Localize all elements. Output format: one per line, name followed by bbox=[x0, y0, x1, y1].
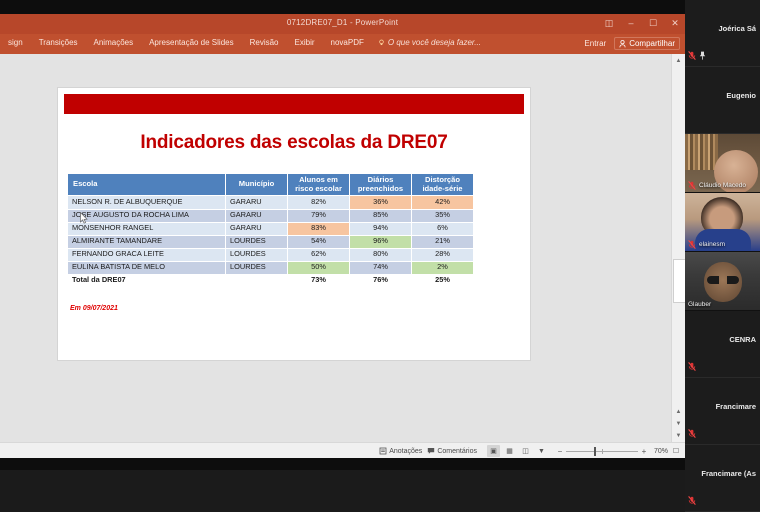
participant-badges bbox=[688, 362, 696, 371]
cell-distorcao: 6% bbox=[412, 222, 474, 235]
slide-date-note[interactable]: Em 09/07/2021 bbox=[70, 305, 118, 312]
participant-name: Francimare (As bbox=[687, 469, 756, 478]
participant-name: Glauber bbox=[688, 301, 711, 308]
cell-risco: 79% bbox=[288, 209, 350, 222]
th-escola: Escola bbox=[68, 174, 226, 196]
cell-risco: 82% bbox=[288, 196, 350, 209]
share-button[interactable]: Compartilhar bbox=[614, 37, 680, 50]
minimize-icon[interactable]: – bbox=[625, 16, 637, 30]
tab-animacoes[interactable]: Animações bbox=[86, 37, 142, 48]
letterbox-bottom bbox=[0, 458, 685, 470]
cell-distorcao: 2% bbox=[412, 261, 474, 274]
cell-distorcao: 35% bbox=[412, 209, 474, 222]
participant-name: elainesm bbox=[699, 241, 725, 248]
cell-escola: EULINA BATISTA DE MELO bbox=[68, 261, 226, 274]
slideshow-icon[interactable]: ▼ bbox=[535, 445, 548, 457]
pin-icon bbox=[699, 51, 706, 60]
participant-name: CENRA bbox=[687, 335, 756, 344]
comments-label: Comentários bbox=[437, 448, 477, 455]
cell-municipio: GARARU bbox=[226, 222, 288, 235]
restore-icon[interactable]: ☐ bbox=[647, 16, 659, 30]
tab-design[interactable]: sign bbox=[0, 37, 31, 48]
cell-escola: ALMIRANTE TAMANDARE bbox=[68, 235, 226, 248]
participant-video-label: elainesm bbox=[688, 240, 758, 249]
table-row[interactable]: JOSE AUGUSTO DA ROCHA LIMA GARARU 79% 85… bbox=[68, 209, 474, 222]
participant-video-label: Cláudio Macedo bbox=[688, 181, 758, 190]
table-row[interactable]: MONSENHOR RANGEL GARARU 83% 94% 6% bbox=[68, 222, 474, 235]
participant-video-tile-claudio-macedo[interactable]: Cláudio Macedo bbox=[685, 134, 760, 193]
cell-total-risco: 73% bbox=[288, 274, 350, 287]
cell-diarios: 80% bbox=[350, 248, 412, 261]
cell-municipio: GARARU bbox=[226, 209, 288, 222]
status-bar-right: Anotações Comentários ▣ ▦ ◫ ▼ − bbox=[379, 443, 681, 458]
cell-diarios: 85% bbox=[350, 209, 412, 222]
window-title: 0712DRE07_D1 - PowerPoint bbox=[0, 18, 685, 27]
mic-muted-icon bbox=[688, 496, 696, 505]
table-row[interactable]: FERNANDO GRACA LEITE LOURDES 62% 80% 28% bbox=[68, 248, 474, 261]
cell-diarios: 96% bbox=[350, 235, 412, 248]
next-slide-icon[interactable]: ▼ bbox=[672, 418, 685, 430]
zoom-level-label[interactable]: 70% bbox=[650, 448, 668, 455]
participant-tile-eugenio[interactable]: Eugenio bbox=[685, 67, 760, 134]
th-distorcao-line2: idade-série bbox=[422, 184, 462, 193]
table-total-row[interactable]: Total da DRE07 73% 76% 25% bbox=[68, 274, 474, 287]
table-row[interactable]: EULINA BATISTA DE MELO LOURDES 50% 74% 2… bbox=[68, 261, 474, 274]
cell-diarios: 94% bbox=[350, 222, 412, 235]
comment-icon bbox=[427, 447, 435, 455]
scroll-down-icon[interactable]: ▼ bbox=[672, 430, 685, 442]
share-label: Compartilhar bbox=[629, 39, 675, 48]
participant-tile-joerica-sa[interactable]: Joérica Sá bbox=[685, 0, 760, 67]
cell-diarios: 36% bbox=[350, 196, 412, 209]
zoom-default-tick bbox=[602, 449, 603, 454]
th-alunos-risco-line2: risco escolar bbox=[295, 184, 342, 193]
letterbox-top bbox=[0, 0, 685, 14]
cell-risco: 50% bbox=[288, 261, 350, 274]
sign-in-button[interactable]: Entrar bbox=[584, 39, 606, 48]
participant-name: Joérica Sá bbox=[687, 24, 756, 33]
powerpoint-window: 0712DRE07_D1 - PowerPoint ◫ – ☐ ✕ sign T… bbox=[0, 14, 685, 458]
cell-total-diarios: 76% bbox=[350, 274, 412, 287]
participant-name: Eugenio bbox=[687, 91, 756, 100]
cell-escola: NELSON R. DE ALBUQUERQUE bbox=[68, 196, 226, 209]
reading-view-icon[interactable]: ◫ bbox=[519, 445, 532, 457]
tell-me-label: O que você deseja fazer... bbox=[388, 38, 481, 47]
th-municipio: Município bbox=[226, 174, 288, 196]
slide-title[interactable]: Indicadores das escolas da DRE07 bbox=[58, 132, 530, 154]
mouse-cursor bbox=[80, 212, 88, 224]
mic-muted-icon bbox=[688, 362, 696, 371]
cell-total-distorcao: 25% bbox=[412, 274, 474, 287]
screen-root: 0712DRE07_D1 - PowerPoint ◫ – ☐ ✕ sign T… bbox=[0, 0, 760, 470]
participant-tile-francimare[interactable]: Francimare bbox=[685, 378, 760, 445]
comments-button[interactable]: Comentários bbox=[427, 447, 477, 455]
ribbon-tab-bar: sign Transições Animações Apresentação d… bbox=[0, 34, 685, 54]
participant-badges bbox=[688, 51, 706, 60]
slide-stage: Indicadores das escolas da DRE07 Escola … bbox=[0, 54, 685, 442]
tab-revisao[interactable]: Revisão bbox=[242, 37, 287, 48]
mic-muted-icon bbox=[688, 51, 696, 60]
th-diarios-line1: Diários bbox=[368, 175, 394, 184]
participant-tile-cenra[interactable]: CENRA bbox=[685, 311, 760, 378]
cell-escola: FERNANDO GRACA LEITE bbox=[68, 248, 226, 261]
th-alunos-risco-line1: Alunos em bbox=[299, 175, 338, 184]
window-controls: ◫ – ☐ ✕ bbox=[603, 16, 681, 30]
notes-icon bbox=[379, 447, 387, 455]
notes-button[interactable]: Anotações bbox=[379, 447, 422, 455]
participant-name: Francimare bbox=[687, 402, 756, 411]
slide-sorter-icon[interactable]: ▦ bbox=[503, 445, 516, 457]
participant-rail: Joérica Sá Eugenio bbox=[685, 0, 760, 470]
scrollbar-thumb[interactable] bbox=[673, 259, 685, 303]
cell-diarios: 74% bbox=[350, 261, 412, 274]
tell-me-box[interactable]: O que você deseja fazer... bbox=[372, 37, 487, 48]
cell-total-label: Total da DRE07 bbox=[68, 274, 226, 287]
mic-muted-icon bbox=[688, 240, 696, 249]
cell-municipio: GARARU bbox=[226, 196, 288, 209]
cell-municipio: LOURDES bbox=[226, 235, 288, 248]
cell-risco: 83% bbox=[288, 222, 350, 235]
participant-video-label: Glauber bbox=[688, 301, 758, 308]
table-header-row: Escola Município Alunos em risco escolar… bbox=[68, 174, 474, 196]
slide-canvas[interactable]: Indicadores das escolas da DRE07 Escola … bbox=[58, 88, 530, 360]
share-person-icon bbox=[619, 40, 626, 48]
participant-video-tile-elainesm[interactable]: elainesm bbox=[685, 193, 760, 252]
cell-escola: MONSENHOR RANGEL bbox=[68, 222, 226, 235]
zoom-control[interactable]: − + 70% ☐ bbox=[557, 446, 681, 456]
cell-municipio: LOURDES bbox=[226, 248, 288, 261]
zoom-slider-track[interactable] bbox=[566, 451, 638, 452]
participant-name: Cláudio Macedo bbox=[699, 182, 746, 189]
th-alunos-risco: Alunos em risco escolar bbox=[288, 174, 350, 196]
previous-slide-icon[interactable]: ▲ bbox=[672, 406, 685, 418]
participant-badges bbox=[688, 496, 696, 505]
cell-distorcao: 42% bbox=[412, 196, 474, 209]
mic-muted-icon bbox=[688, 181, 696, 190]
slide-vertical-scrollbar[interactable]: ▲ ▲ ▼ ▼ bbox=[671, 54, 685, 442]
scroll-up-icon[interactable]: ▲ bbox=[672, 54, 685, 67]
participant-badges bbox=[688, 429, 696, 438]
cell-risco: 62% bbox=[288, 248, 350, 261]
ribbon-tabs: sign Transições Animações Apresentação d… bbox=[0, 37, 487, 48]
tab-transicoes[interactable]: Transições bbox=[31, 37, 86, 48]
mic-muted-icon bbox=[688, 429, 696, 438]
th-diarios: Diários preenchidos bbox=[350, 174, 412, 196]
cell-total-municipio bbox=[226, 274, 288, 287]
participant-tile-francimare-assistente[interactable]: Francimare (As bbox=[685, 445, 760, 512]
notes-label: Anotações bbox=[389, 448, 422, 455]
cell-risco: 54% bbox=[288, 235, 350, 248]
zoom-slider-handle[interactable] bbox=[594, 447, 596, 456]
cell-municipio: LOURDES bbox=[226, 261, 288, 274]
table-row[interactable]: ALMIRANTE TAMANDARE LOURDES 54% 96% 21% bbox=[68, 235, 474, 248]
tab-exibir[interactable]: Exibir bbox=[287, 37, 323, 48]
title-bar: 0712DRE07_D1 - PowerPoint ◫ – ☐ ✕ bbox=[0, 14, 685, 34]
th-diarios-line2: preenchidos bbox=[358, 184, 403, 193]
status-bar: Anotações Comentários ▣ ▦ ◫ ▼ − bbox=[0, 442, 685, 458]
cell-distorcao: 28% bbox=[412, 248, 474, 261]
zoom-out-icon[interactable]: − bbox=[557, 447, 563, 456]
tab-novapdf[interactable]: novaPDF bbox=[323, 37, 372, 48]
fit-to-window-icon[interactable]: ☐ bbox=[671, 446, 681, 456]
slide-top-banner bbox=[64, 94, 524, 114]
th-distorcao-line1: Distorção bbox=[425, 175, 460, 184]
table-row[interactable]: NELSON R. DE ALBUQUERQUE GARARU 82% 36% … bbox=[68, 196, 474, 209]
th-distorcao: Distorção idade-série bbox=[412, 174, 474, 196]
tab-apresentacao-de-slides[interactable]: Apresentação de Slides bbox=[141, 37, 242, 48]
zoom-in-icon[interactable]: + bbox=[641, 447, 647, 456]
ribbon-right-group: Entrar Compartilhar bbox=[584, 37, 680, 50]
cell-escola: JOSE AUGUSTO DA ROCHA LIMA bbox=[68, 209, 226, 222]
indicators-table[interactable]: Escola Município Alunos em risco escolar… bbox=[67, 173, 474, 288]
ribbon-display-options-icon[interactable]: ◫ bbox=[603, 16, 615, 30]
lightbulb-icon bbox=[378, 39, 385, 46]
participant-video-tile-glauber[interactable]: Glauber bbox=[685, 252, 760, 311]
close-icon[interactable]: ✕ bbox=[669, 16, 681, 30]
view-buttons: ▣ ▦ ◫ ▼ bbox=[487, 445, 548, 457]
cell-distorcao: 21% bbox=[412, 235, 474, 248]
scrollbar-bottom-controls: ▲ ▼ ▼ bbox=[672, 406, 685, 442]
normal-view-icon[interactable]: ▣ bbox=[487, 445, 500, 457]
